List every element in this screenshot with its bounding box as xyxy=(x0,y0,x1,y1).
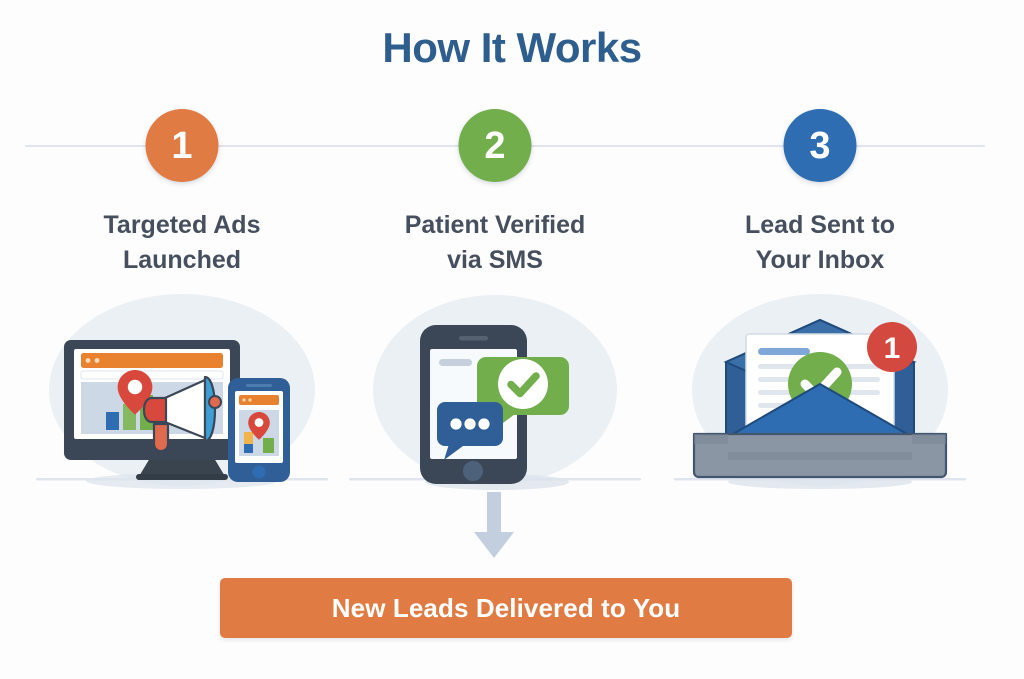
message-placeholder-bar xyxy=(439,359,472,366)
illustration-lead-inbox: 1 xyxy=(670,292,970,492)
step-number-badge-3: 3 xyxy=(784,109,857,182)
cta-banner[interactable]: New Leads Delivered to You xyxy=(220,578,792,638)
mobile-bar-2 xyxy=(244,444,253,453)
infographic-canvas: How It Works 1 Targeted Ads Launched xyxy=(0,0,1024,679)
browser-urlbar xyxy=(81,371,223,379)
notification-badge: 1 xyxy=(867,322,917,372)
flow-arrow-down xyxy=(468,492,520,560)
step-label-1: Targeted Ads Launched xyxy=(17,208,347,277)
browser-titlebar xyxy=(81,353,223,368)
letter-line-accent xyxy=(758,348,810,355)
mobile-home-button xyxy=(253,466,266,479)
chart-bar-1 xyxy=(106,412,119,430)
phone-home-button xyxy=(463,461,483,481)
phone-speaker xyxy=(459,336,488,341)
illustration-patient-verified xyxy=(345,292,645,492)
step-number-badge-1: 1 xyxy=(146,109,219,182)
arrow-down-icon xyxy=(474,492,514,558)
illustration-targeted-ads xyxy=(32,292,332,492)
step-label-2: Patient Verified via SMS xyxy=(330,208,660,277)
step-label-3: Lead Sent to Your Inbox xyxy=(655,208,985,277)
mobile-bar-1 xyxy=(244,432,253,444)
step-number-badge-2: 2 xyxy=(459,109,532,182)
cta-label: New Leads Delivered to You xyxy=(332,593,680,624)
notification-count: 1 xyxy=(884,332,901,365)
check-circle xyxy=(498,359,548,409)
mobile-bar-3 xyxy=(263,438,274,453)
